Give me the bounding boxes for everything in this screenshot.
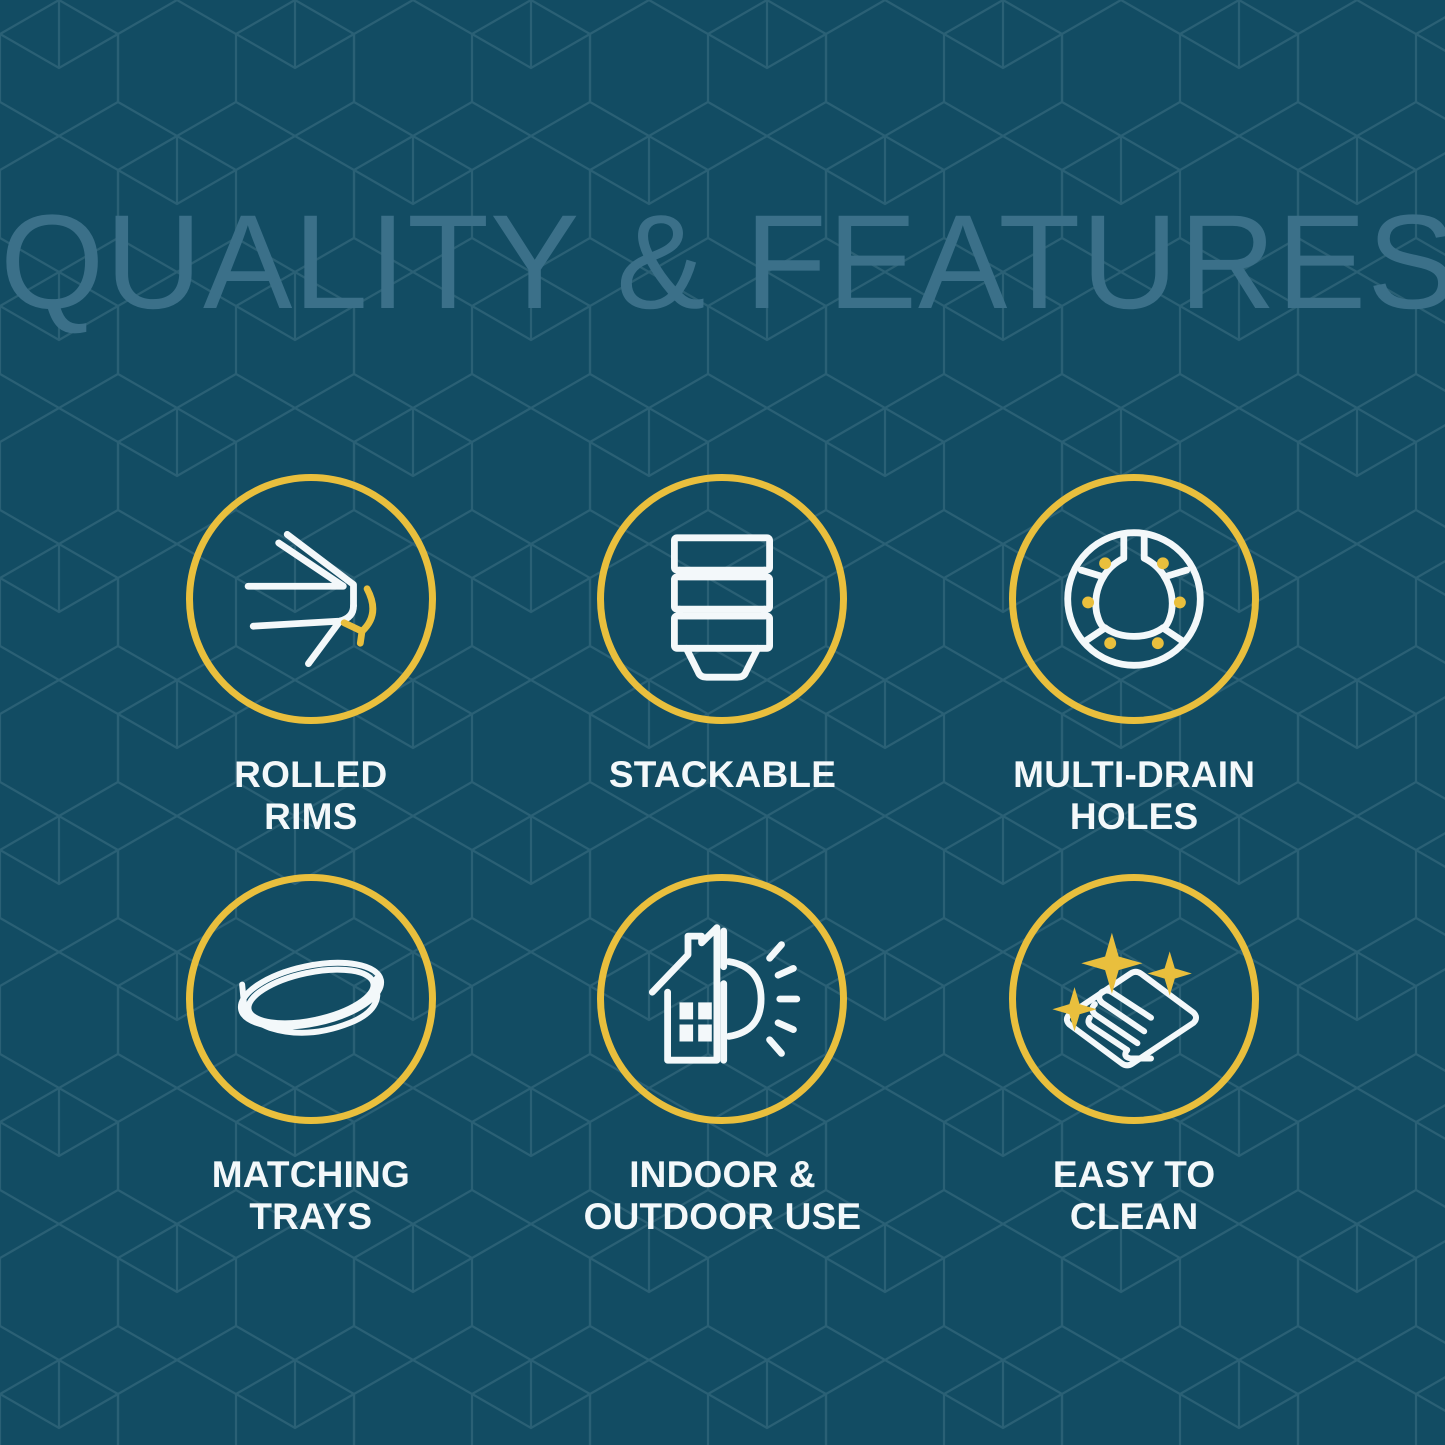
page-title: QUALITY & FEATURES [0, 196, 1445, 330]
feature-label-rolled-rims: ROLLED RIMS [234, 754, 387, 838]
feature-label-indoor-outdoor-use: INDOOR & OUTDOOR USE [584, 1154, 862, 1238]
badge-circle-rolled-rims [186, 474, 436, 724]
house-sun-icon [637, 914, 807, 1084]
feature-multi-drain-holes: MULTI-DRAIN HOLES [928, 474, 1340, 874]
stacked-pots-icon [637, 514, 807, 684]
drain-holes-icon [1049, 514, 1219, 684]
feature-matching-trays: MATCHING TRAYS [105, 874, 517, 1274]
feature-stackable: STACKABLE [517, 474, 929, 874]
badge-circle-matching-trays [186, 874, 436, 1124]
saucer-tray-icon [226, 914, 396, 1084]
quality-and-features-infographic: QUALITY & FEATURES ROL [0, 0, 1445, 1445]
feature-label-matching-trays: MATCHING TRAYS [212, 1154, 410, 1238]
feature-indoor-outdoor-use: INDOOR & OUTDOOR USE [517, 874, 929, 1274]
feature-label-easy-to-clean: EASY TO CLEAN [1053, 1154, 1215, 1238]
rolled-rim-icon [226, 514, 396, 684]
feature-label-stackable: STACKABLE [609, 754, 836, 796]
badge-circle-indoor-outdoor-use [597, 874, 847, 1124]
feature-label-multi-drain-holes: MULTI-DRAIN HOLES [1013, 754, 1255, 838]
badge-circle-easy-to-clean [1009, 874, 1259, 1124]
badge-circle-multi-drain-holes [1009, 474, 1259, 724]
hand-wiping-sparkle-icon [1049, 914, 1219, 1084]
feature-easy-to-clean: EASY TO CLEAN [928, 874, 1340, 1274]
feature-grid: ROLLED RIMS STACKABLE [105, 474, 1340, 1274]
badge-circle-stackable [597, 474, 847, 724]
feature-rolled-rims: ROLLED RIMS [105, 474, 517, 874]
